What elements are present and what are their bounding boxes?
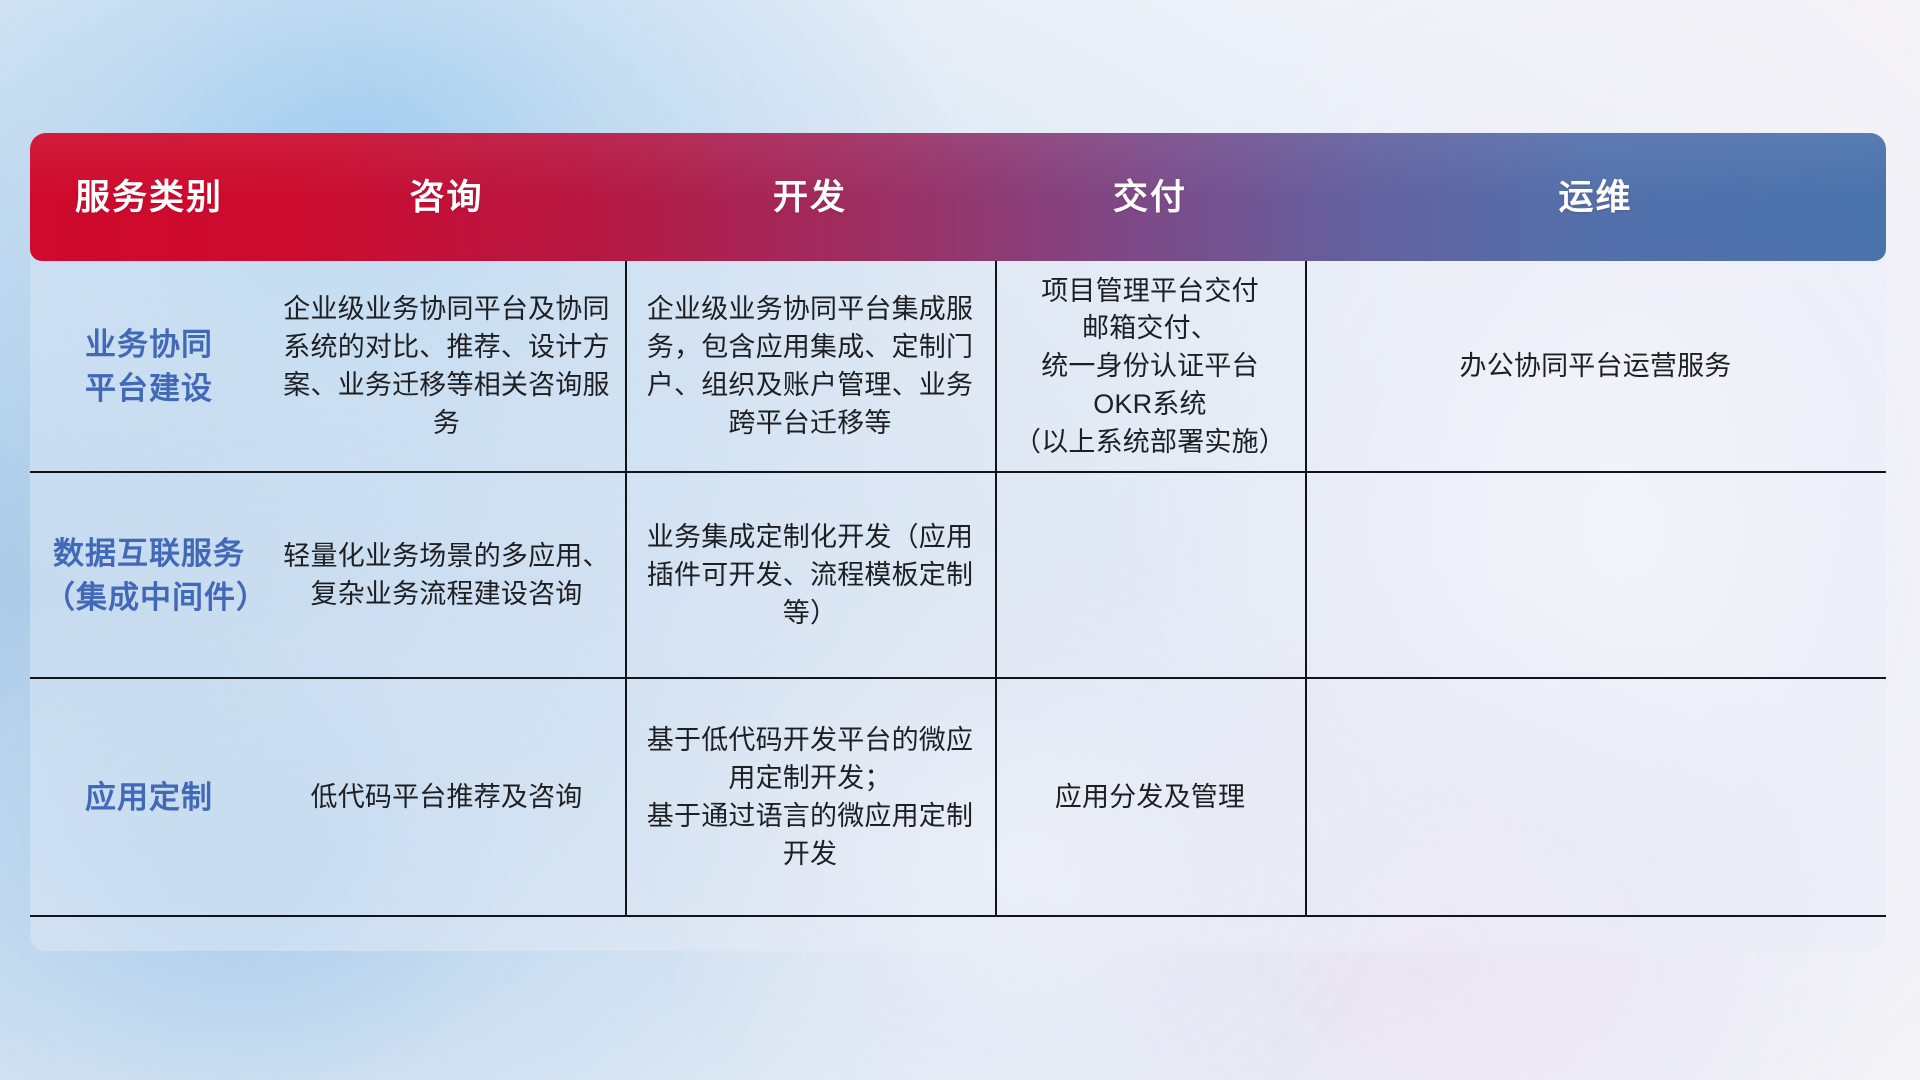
cell-delivery: 应用分发及管理: [995, 679, 1305, 917]
cell-consulting: 企业级业务协同平台及协同系统的对比、推荐、设计方案、业务迁移等相关咨询服务: [268, 261, 625, 473]
cell-consulting: 轻量化业务场景的多应用、复杂业务流程建设咨询: [268, 473, 625, 679]
cell-development: 基于低代码开发平台的微应用定制开发； 基于通过语言的微应用定制开发: [625, 679, 995, 917]
cell-text: 基于低代码开发平台的微应用定制开发； 基于通过语言的微应用定制开发: [639, 722, 981, 873]
cell-delivery: 项目管理平台交付 邮箱交付、 统一身份认证平台 OKR系统 （以上系统部署实施）: [995, 261, 1305, 473]
cell-operations: [1305, 679, 1886, 917]
row-label-cell: 业务协同 平台建设: [30, 261, 268, 473]
cell-text: 项目管理平台交付 邮箱交付、 统一身份认证平台 OKR系统 （以上系统部署实施）: [1014, 273, 1286, 462]
row-divider-3: [30, 915, 1886, 917]
row-divider-1: [30, 471, 1886, 473]
column-divider-1: [625, 261, 627, 917]
table-row: 应用定制 低代码平台推荐及咨询 基于低代码开发平台的微应用定制开发； 基于通过语…: [30, 679, 1886, 917]
cell-operations: [1305, 473, 1886, 679]
cell-delivery: [995, 473, 1305, 679]
cell-development: 企业级业务协同平台集成服务，包含应用集成、定制门户、组织及账户管理、业务跨平台迁…: [625, 261, 995, 473]
column-header-consulting: 咨询: [268, 180, 625, 215]
cell-text: 企业级业务协同平台及协同系统的对比、推荐、设计方案、业务迁移等相关咨询服务: [282, 291, 611, 442]
column-divider-2: [995, 261, 997, 917]
table-row: 业务协同 平台建设 企业级业务协同平台及协同系统的对比、推荐、设计方案、业务迁移…: [30, 261, 1886, 473]
row-label-text: 数据互联服务 （集成中间件）: [44, 532, 254, 620]
row-label-text: 应用定制: [85, 776, 213, 820]
cell-text: 业务集成定制化开发（应用插件可开发、流程模板定制等）: [639, 519, 981, 632]
row-label-cell: 应用定制: [30, 679, 268, 917]
cell-text: 企业级业务协同平台集成服务，包含应用集成、定制门户、组织及账户管理、业务跨平台迁…: [639, 291, 981, 442]
cell-operations: 办公协同平台运营服务: [1305, 261, 1886, 473]
column-header-operations: 运维: [1305, 180, 1886, 215]
table-body: 业务协同 平台建设 企业级业务协同平台及协同系统的对比、推荐、设计方案、业务迁移…: [30, 261, 1886, 951]
table-row: 数据互联服务 （集成中间件） 轻量化业务场景的多应用、复杂业务流程建设咨询 业务…: [30, 473, 1886, 679]
cell-consulting: 低代码平台推荐及咨询: [268, 679, 625, 917]
column-divider-3: [1305, 261, 1307, 917]
row-label-text: 业务协同 平台建设: [85, 323, 213, 411]
row-label-cell: 数据互联服务 （集成中间件）: [30, 473, 268, 679]
table-header-row: 服务类别 咨询 开发 交付 运维: [30, 133, 1886, 261]
cell-development: 业务集成定制化开发（应用插件可开发、流程模板定制等）: [625, 473, 995, 679]
column-header-category: 服务类别: [30, 180, 268, 215]
column-header-development: 开发: [625, 180, 995, 215]
row-divider-2: [30, 677, 1886, 679]
column-header-delivery: 交付: [995, 180, 1305, 215]
cell-text: 轻量化业务场景的多应用、复杂业务流程建设咨询: [282, 538, 611, 614]
cell-text: 应用分发及管理: [1055, 779, 1245, 817]
cell-text: 办公协同平台运营服务: [1460, 348, 1732, 386]
cell-text: 低代码平台推荐及咨询: [311, 779, 583, 817]
